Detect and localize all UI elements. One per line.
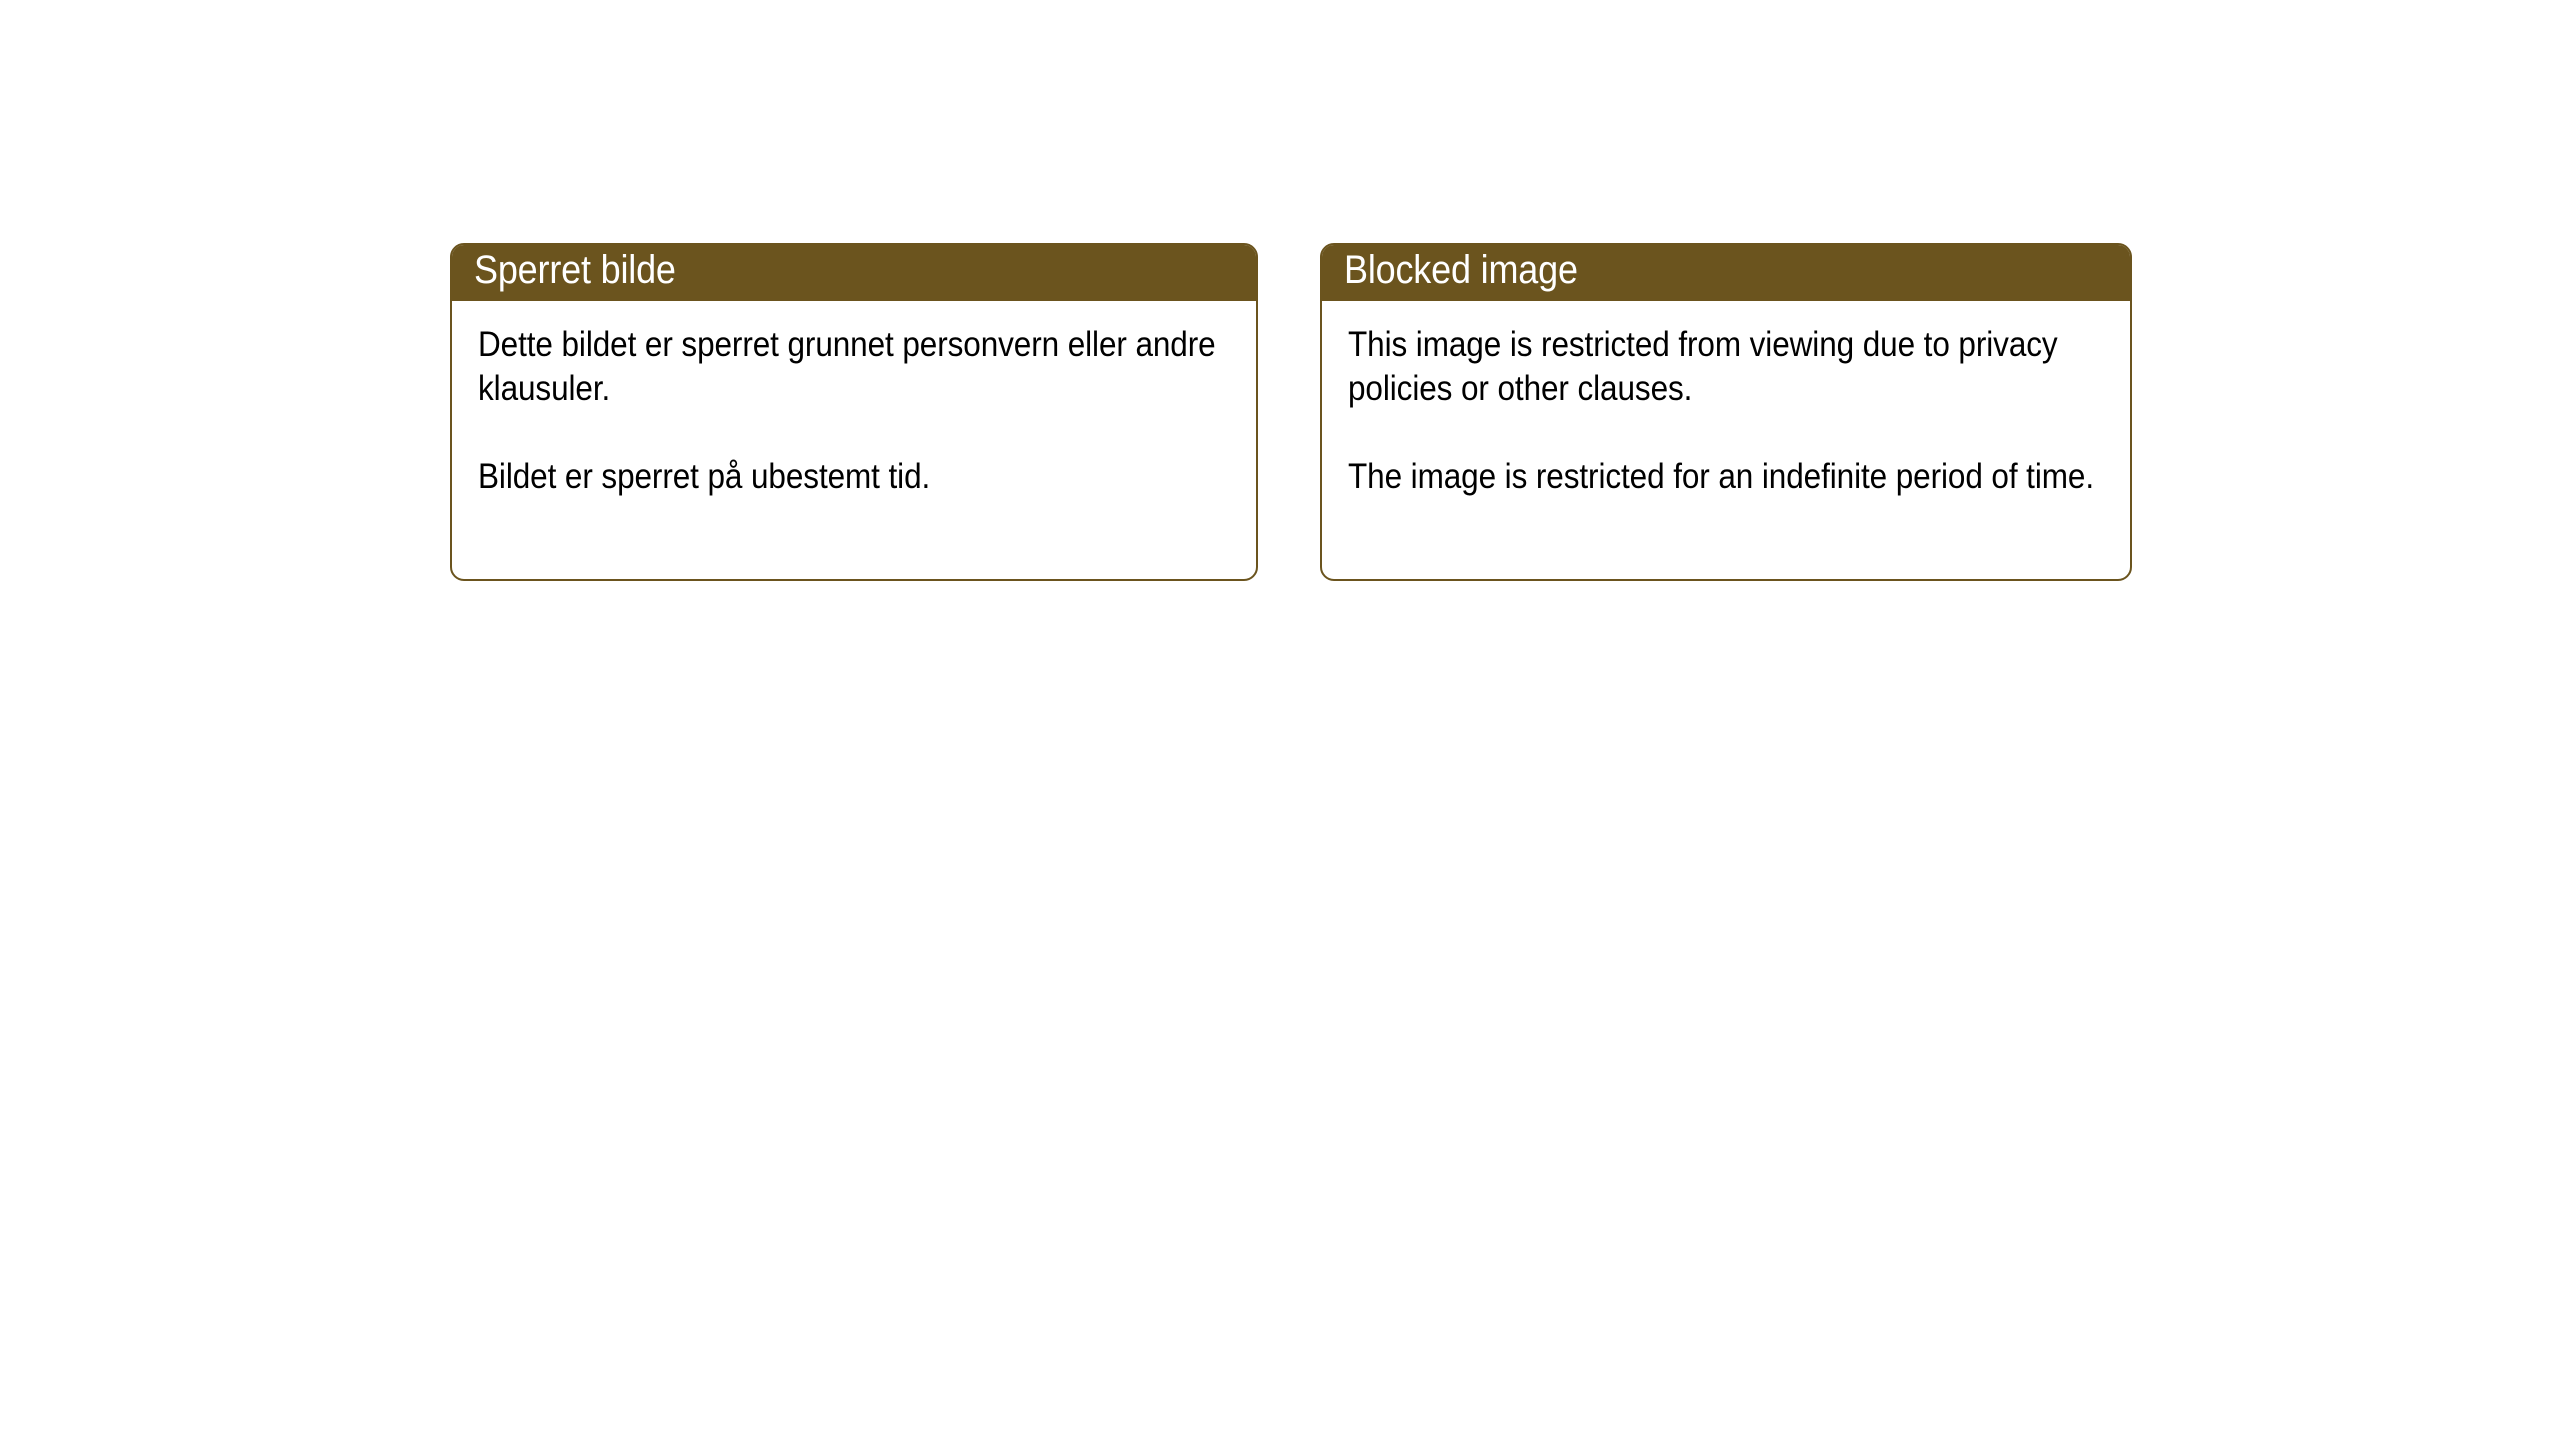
card-paragraph-duration-no: Bildet er sperret på ubestemt tid. <box>478 455 1216 499</box>
card-header-en: Blocked image <box>1320 243 2132 301</box>
card-header-no: Sperret bilde <box>450 243 1258 301</box>
card-title-no: Sperret bilde <box>474 250 676 290</box>
card-paragraph-reason-no: Dette bildet er sperret grunnet personve… <box>478 323 1216 411</box>
blocked-image-notice-card-no: Sperret bilde Dette bildet er sperret gr… <box>450 243 1258 581</box>
blocked-image-notice-card-en: Blocked image This image is restricted f… <box>1320 243 2132 581</box>
card-paragraph-reason-en: This image is restricted from viewing du… <box>1348 323 2095 411</box>
card-body-en: This image is restricted from viewing du… <box>1322 301 2130 499</box>
page-canvas: Sperret bilde Dette bildet er sperret gr… <box>0 0 2560 1440</box>
card-body-no: Dette bildet er sperret grunnet personve… <box>452 301 1256 499</box>
card-title-en: Blocked image <box>1344 250 1578 290</box>
card-paragraph-duration-en: The image is restricted for an indefinit… <box>1348 455 2095 499</box>
